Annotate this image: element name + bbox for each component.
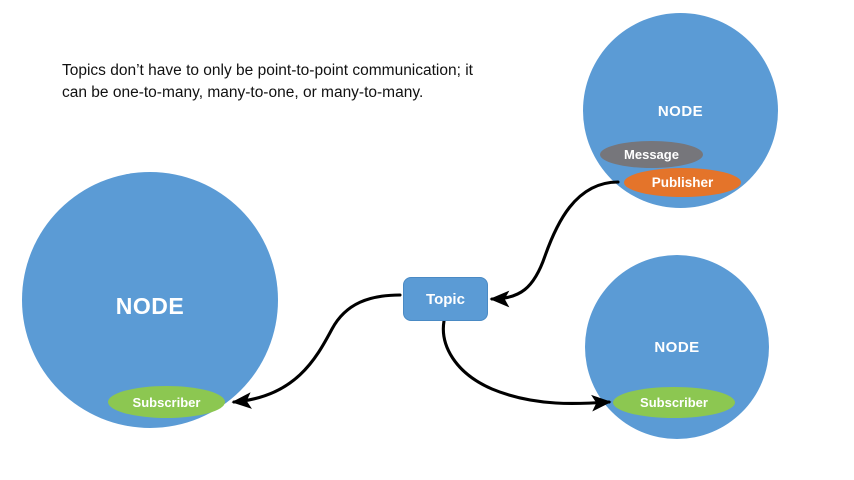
arrow-publisher-to-topic [492, 182, 618, 299]
topic-box[interactable]: Topic [403, 277, 488, 321]
subscriber-port-left[interactable]: Subscriber [108, 386, 225, 418]
publisher-port-top-right-label: Publisher [652, 175, 714, 190]
slide-canvas: Topics don’t have to only be point-to-po… [0, 0, 854, 480]
caption-text: Topics don’t have to only be point-to-po… [62, 60, 482, 105]
message-port-top-right[interactable]: Message [600, 141, 703, 168]
node-top-right-label: NODE [583, 103, 778, 120]
topic-label: Topic [426, 291, 465, 308]
node-bottom-right-label: NODE [585, 339, 769, 356]
node-left-label: NODE [22, 293, 278, 320]
arrow-topic-to-subscriber-bottom-right [443, 321, 609, 404]
subscriber-port-left-label: Subscriber [133, 395, 201, 410]
publisher-port-top-right[interactable]: Publisher [624, 168, 741, 197]
message-port-top-right-label: Message [624, 147, 679, 162]
subscriber-port-bottom-right-label: Subscriber [640, 395, 708, 410]
subscriber-port-bottom-right[interactable]: Subscriber [613, 387, 735, 418]
